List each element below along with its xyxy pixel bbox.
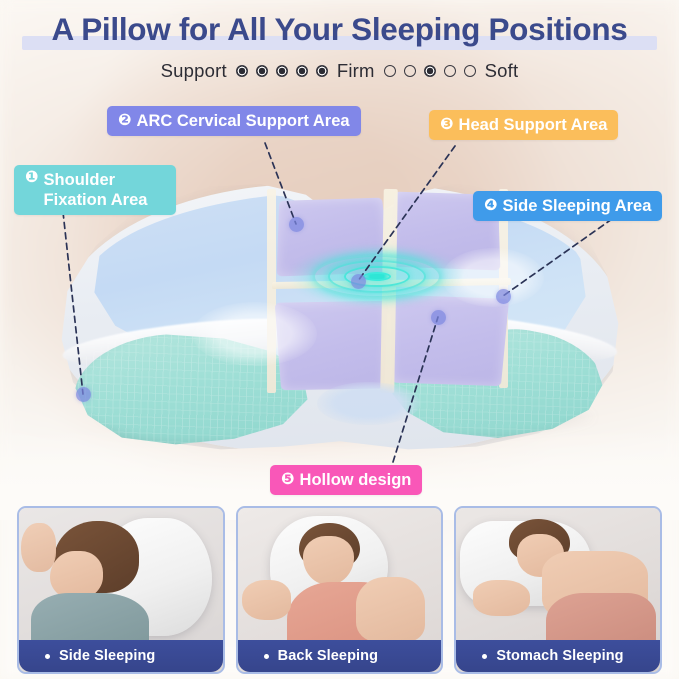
callout-label-5: Hollow design — [300, 470, 412, 490]
model-arm — [473, 580, 530, 616]
callout-badge-hollow-design[interactable]: ❺ Hollow design — [270, 465, 422, 495]
support-dot-3[interactable] — [276, 65, 288, 77]
callout-badge-shoulder-fixation-area[interactable]: ❶ Shoulder Fixation Area — [14, 165, 176, 215]
pillow-graphic — [56, 184, 624, 452]
callout-label-1-line1: Shoulder — [44, 171, 116, 189]
support-dots — [236, 65, 328, 77]
callout-label-3: Head Support Area — [459, 115, 608, 135]
firm-label: Firm — [337, 60, 375, 82]
thumbnail-caption-back: Back Sleeping — [238, 640, 442, 672]
model-arm — [242, 580, 291, 619]
firmness-dot-5[interactable] — [464, 65, 476, 77]
callout-number-3: ❸ — [440, 117, 454, 133]
firmness-dot-3[interactable] — [424, 65, 436, 77]
soft-label: Soft — [485, 60, 519, 82]
firmness-dot-2[interactable] — [404, 65, 416, 77]
caption-text-side: Side Sleeping — [59, 648, 155, 664]
thumbnail-back-sleeping[interactable]: Back Sleeping — [236, 506, 444, 674]
caption-bullet-icon — [482, 654, 487, 659]
support-dot-2[interactable] — [256, 65, 268, 77]
caption-bullet-icon — [264, 654, 269, 659]
callout-badge-side-sleeping-area[interactable]: ❹ Side Sleeping Area — [473, 191, 662, 221]
firmness-dots — [384, 65, 476, 77]
callout-label-2: ARC Cervical Support Area — [137, 111, 350, 131]
sleeping-position-gallery: Side Sleeping Back Sleeping — [0, 506, 679, 674]
caption-bullet-icon — [45, 654, 50, 659]
support-dot-1[interactable] — [236, 65, 248, 77]
endpoint-dot-3 — [351, 274, 366, 289]
zone-lower-right — [390, 294, 509, 386]
caption-text-stomach: Stomach Sleeping — [496, 648, 623, 664]
page-title: A Pillow for All Your Sleeping Positions — [0, 6, 679, 52]
callout-number-2: ❷ — [118, 113, 132, 129]
infographic-canvas: A Pillow for All Your Sleeping Positions… — [0, 0, 679, 679]
caption-text-back: Back Sleeping — [278, 648, 378, 664]
support-dot-5[interactable] — [316, 65, 328, 77]
thumbnail-caption-stomach: Stomach Sleeping — [456, 640, 660, 672]
callout-number-4: ❹ — [484, 198, 498, 214]
callout-label-4: Side Sleeping Area — [503, 196, 652, 216]
thumbnail-caption-side: Side Sleeping — [19, 640, 223, 672]
callout-badge-head-support-area[interactable]: ❸ Head Support Area — [429, 110, 618, 140]
thumbnail-side-sleeping[interactable]: Side Sleeping — [17, 506, 225, 674]
firmness-dot-1[interactable] — [384, 65, 396, 77]
callout-number-1: ❶ — [25, 170, 39, 186]
endpoint-dot-4 — [496, 289, 511, 304]
pillow-dip-center — [192, 302, 317, 366]
page-title-wrap: A Pillow for All Your Sleeping Positions — [0, 6, 679, 54]
model-arm — [21, 523, 56, 572]
model-shoulder — [356, 577, 425, 643]
endpoint-dot-5 — [431, 310, 446, 325]
support-dot-4[interactable] — [296, 65, 308, 77]
pillow-hollow-notch — [317, 382, 419, 425]
firmness-dot-4[interactable] — [444, 65, 456, 77]
zone-upper-left — [276, 197, 389, 276]
endpoint-dot-1 — [76, 387, 91, 402]
support-label: Support — [161, 60, 227, 82]
thumbnail-stomach-sleeping[interactable]: Stomach Sleeping — [454, 506, 662, 674]
callout-number-5: ❺ — [281, 472, 295, 488]
firmness-scale: Support Firm Soft — [0, 58, 679, 84]
callout-label-1-line2: Fixation Area — [44, 191, 148, 209]
endpoint-dot-2 — [289, 217, 304, 232]
callout-badge-arc-cervical-support-area[interactable]: ❷ ARC Cervical Support Area — [107, 106, 361, 136]
